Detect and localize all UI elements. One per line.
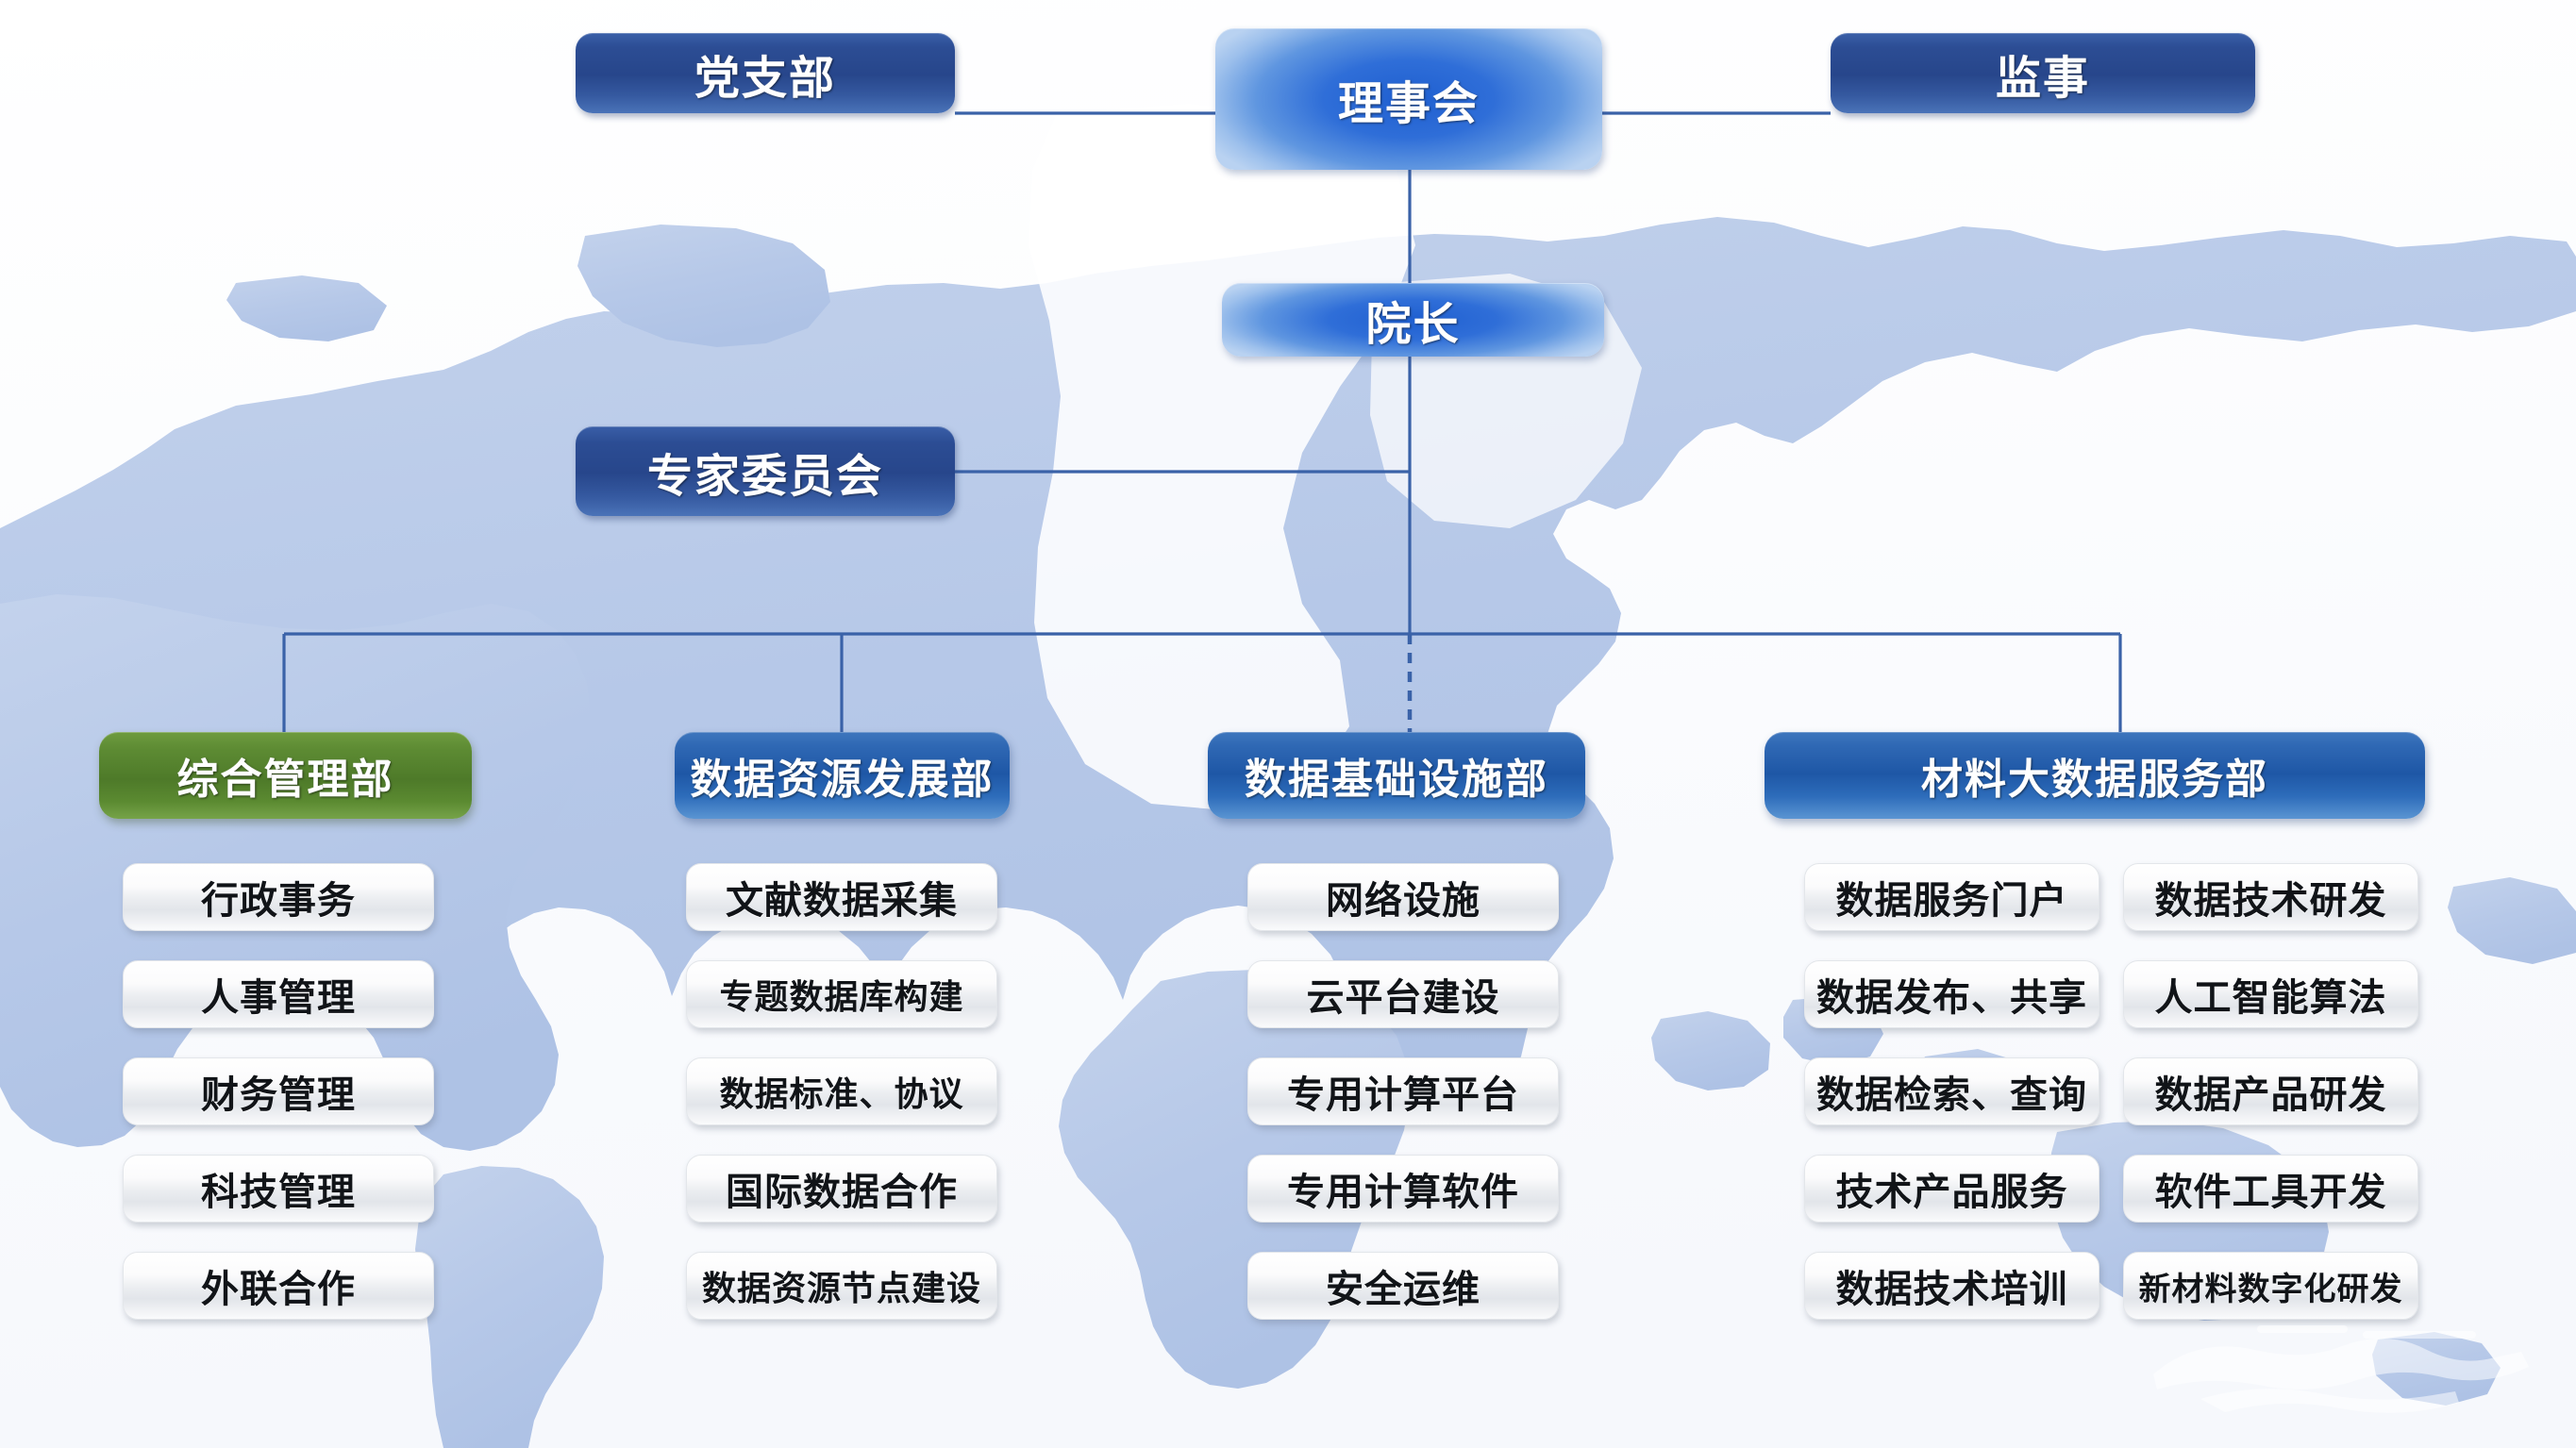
subitem-infrastructure-2-label: 云平台建设: [1307, 967, 1500, 1022]
subitem-general-4-label: 科技管理: [201, 1161, 356, 1216]
subitem-infrastructure-4[interactable]: 专用计算软件: [1247, 1155, 1559, 1223]
subitem-general-3[interactable]: 财务管理: [123, 1057, 434, 1125]
subitem-rnd-3[interactable]: 数据产品研发: [2123, 1057, 2418, 1125]
subitem-infrastructure-3-label: 专用计算平台: [1287, 1064, 1519, 1119]
subitem-dataresource-4[interactable]: 国际数据合作: [686, 1155, 997, 1223]
subitem-service-1[interactable]: 数据服务门户: [1804, 863, 2099, 931]
subitem-infrastructure-5[interactable]: 安全运维: [1247, 1252, 1559, 1320]
subitem-dataresource-1[interactable]: 文献数据采集: [686, 863, 997, 931]
subitem-dataresource-5-label: 数据资源节点建设: [702, 1261, 981, 1310]
org-chart-canvas: 党支部 理事会 监事 院长 专家委员会 综合管理部 数据资源发展部 数据基础设施…: [0, 0, 2576, 1448]
subitem-general-3-label: 财务管理: [201, 1064, 356, 1119]
subitem-rnd-2[interactable]: 人工智能算法: [2123, 960, 2418, 1028]
subitem-infrastructure-4-label: 专用计算软件: [1287, 1161, 1519, 1216]
node-department-material-bigdata-service-label: 材料大数据服务部: [1921, 745, 2268, 806]
node-board-of-directors[interactable]: 理事会: [1215, 28, 1602, 170]
node-department-material-bigdata-service[interactable]: 材料大数据服务部: [1765, 732, 2425, 819]
subitem-general-5-label: 外联合作: [201, 1258, 356, 1313]
subitem-general-5[interactable]: 外联合作: [123, 1252, 434, 1320]
subitem-infrastructure-1-label: 网络设施: [1326, 870, 1480, 924]
subitem-infrastructure-1[interactable]: 网络设施: [1247, 863, 1559, 931]
subitem-service-1-label: 数据服务门户: [1836, 870, 2068, 924]
subitem-rnd-1[interactable]: 数据技术研发: [2123, 863, 2418, 931]
subitem-infrastructure-5-label: 安全运维: [1326, 1258, 1480, 1313]
subitem-service-5[interactable]: 数据技术培训: [1804, 1252, 2099, 1320]
subitem-general-1-label: 行政事务: [201, 870, 356, 924]
node-dean-label: 院长: [1365, 287, 1460, 353]
subitem-service-4[interactable]: 技术产品服务: [1804, 1155, 2099, 1223]
subitem-dataresource-3-label: 数据标准、协议: [719, 1067, 963, 1116]
subitem-rnd-3-label: 数据产品研发: [2155, 1064, 2387, 1119]
subitem-dataresource-1-label: 文献数据采集: [726, 870, 958, 924]
subitem-service-4-label: 技术产品服务: [1836, 1161, 2068, 1216]
node-supervisor[interactable]: 监事: [1831, 33, 2255, 113]
subitem-dataresource-3[interactable]: 数据标准、协议: [686, 1057, 997, 1125]
subitem-dataresource-4-label: 国际数据合作: [726, 1161, 958, 1216]
connector-lines: [0, 0, 2576, 1448]
subitem-service-3[interactable]: 数据检索、查询: [1804, 1057, 2099, 1125]
node-department-data-infrastructure[interactable]: 数据基础设施部: [1208, 732, 1585, 819]
node-expert-committee[interactable]: 专家委员会: [576, 426, 955, 516]
node-department-data-infrastructure-label: 数据基础设施部: [1245, 745, 1548, 806]
node-supervisor-label: 监事: [1996, 41, 2090, 107]
subitem-rnd-4-label: 软件工具开发: [2155, 1161, 2387, 1216]
subitem-service-5-label: 数据技术培训: [1836, 1258, 2068, 1313]
node-party-branch[interactable]: 党支部: [576, 33, 955, 113]
subitem-rnd-4[interactable]: 软件工具开发: [2123, 1155, 2418, 1223]
subitem-rnd-5[interactable]: 新材料数字化研发: [2123, 1252, 2418, 1320]
subitem-dataresource-5[interactable]: 数据资源节点建设: [686, 1252, 997, 1320]
subitem-rnd-2-label: 人工智能算法: [2155, 967, 2387, 1022]
subitem-service-2[interactable]: 数据发布、共享: [1804, 960, 2099, 1028]
subitem-infrastructure-2[interactable]: 云平台建设: [1247, 960, 1559, 1028]
node-board-of-directors-label: 理事会: [1338, 66, 1480, 132]
subitem-dataresource-2-label: 专题数据库构建: [719, 970, 963, 1019]
node-dean[interactable]: 院长: [1222, 283, 1604, 357]
subitem-general-2-label: 人事管理: [201, 967, 356, 1022]
node-department-general-management-label: 综合管理部: [177, 745, 394, 806]
subitem-service-3-label: 数据检索、查询: [1816, 1064, 2087, 1119]
subitem-rnd-1-label: 数据技术研发: [2155, 870, 2387, 924]
subitem-dataresource-2[interactable]: 专题数据库构建: [686, 960, 997, 1028]
node-expert-committee-label: 专家委员会: [647, 439, 883, 505]
node-department-data-resource[interactable]: 数据资源发展部: [675, 732, 1010, 819]
subitem-service-2-label: 数据发布、共享: [1816, 967, 2087, 1022]
subitem-general-2[interactable]: 人事管理: [123, 960, 434, 1028]
node-department-data-resource-label: 数据资源发展部: [691, 745, 995, 806]
subitem-rnd-5-label: 新材料数字化研发: [2139, 1263, 2403, 1309]
subitem-general-4[interactable]: 科技管理: [123, 1155, 434, 1223]
node-party-branch-label: 党支部: [694, 41, 836, 107]
subitem-infrastructure-3[interactable]: 专用计算平台: [1247, 1057, 1559, 1125]
node-department-general-management[interactable]: 综合管理部: [99, 732, 472, 819]
subitem-general-1[interactable]: 行政事务: [123, 863, 434, 931]
